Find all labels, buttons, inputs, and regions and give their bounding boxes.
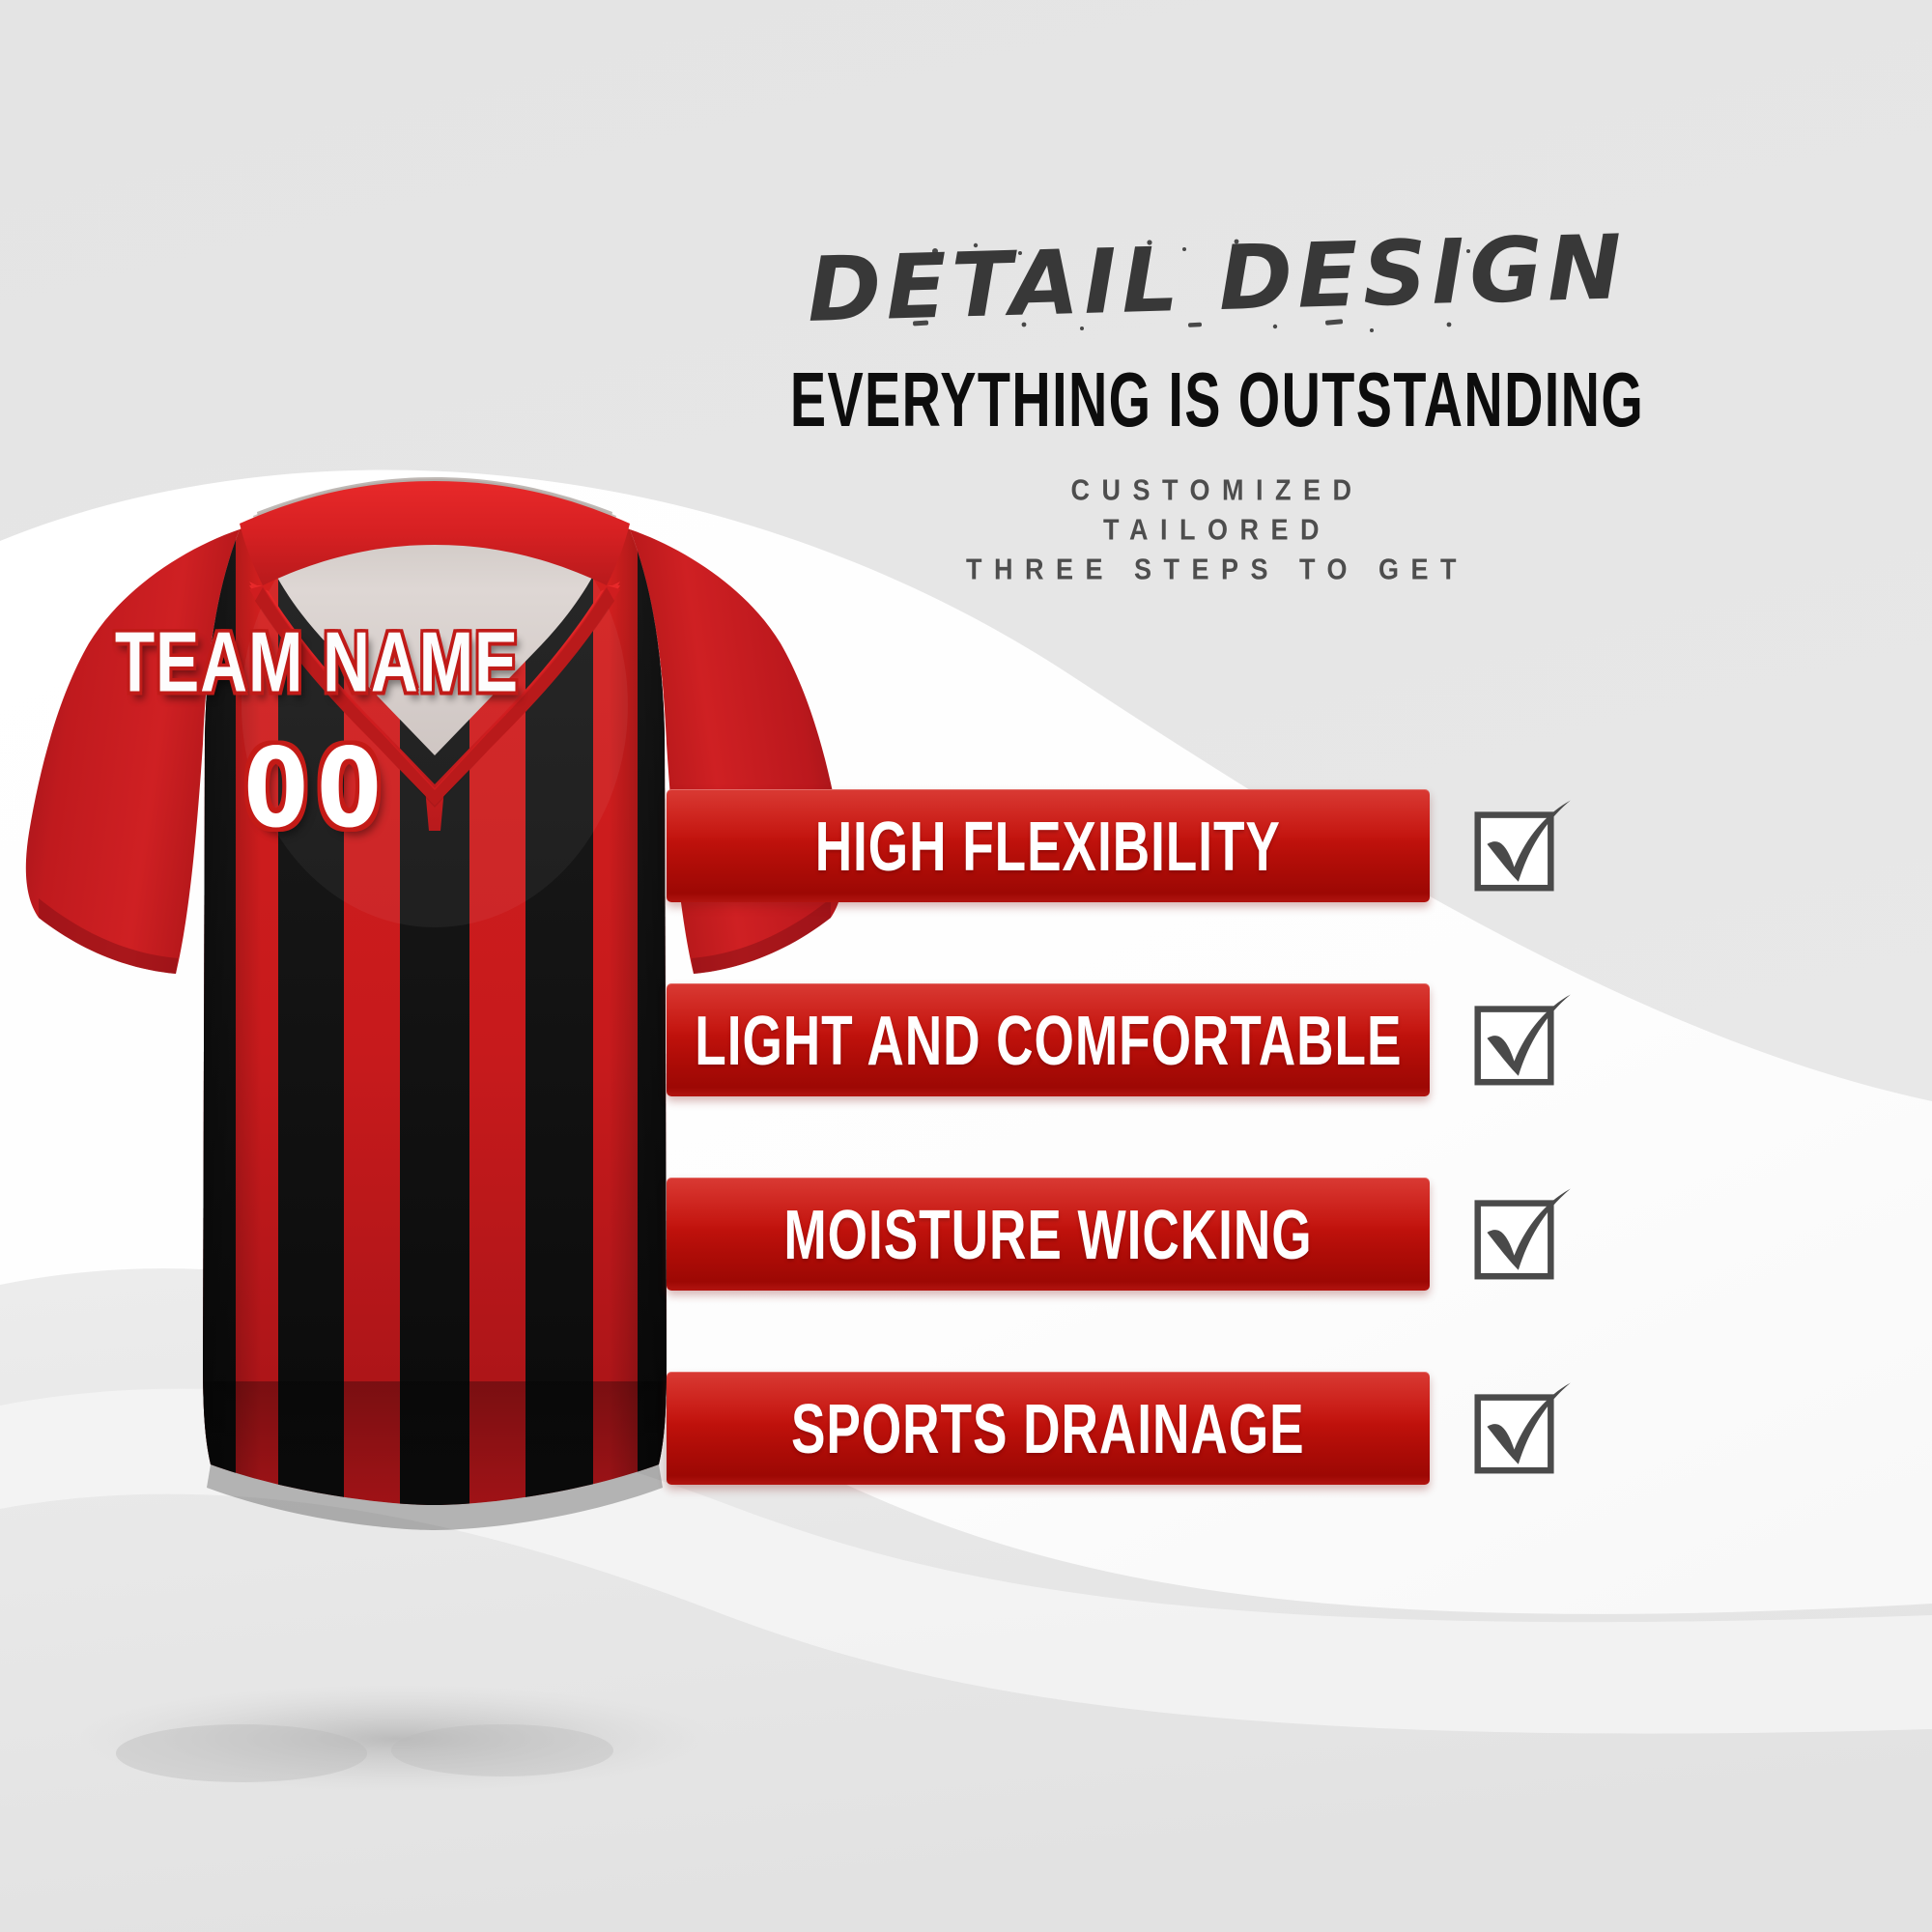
page-subtitle: EVERYTHING IS OUTSTANDING: [696, 355, 1739, 444]
feature-item[interactable]: LIGHT AND COMFORTABLE: [667, 983, 1932, 1096]
check-square-icon[interactable]: [1468, 1377, 1573, 1481]
caption-list: CUSTOMIZED TAILORED THREE STEPS TO GET: [657, 469, 1777, 587]
feature-bar[interactable]: LIGHT AND COMFORTABLE: [667, 983, 1430, 1096]
feature-item[interactable]: HIGH FLEXIBILITY: [667, 789, 1932, 902]
feature-label: MOISTURE WICKING: [783, 1193, 1312, 1275]
check-square-icon[interactable]: [1468, 794, 1573, 898]
feature-bar[interactable]: SPORTS DRAINAGE: [667, 1372, 1430, 1485]
check-square-icon[interactable]: [1468, 988, 1573, 1093]
feature-list: HIGH FLEXIBILITY LIGHT AND COMFORTABLE: [667, 789, 1932, 1566]
headline-block: DETAIL DESIGN EVERYTHING IS OUTSTANDING …: [657, 228, 1777, 587]
page-title-text: DETAIL DESIGN: [806, 228, 1628, 334]
feature-bar[interactable]: MOISTURE WICKING: [667, 1178, 1430, 1291]
feature-item[interactable]: MOISTURE WICKING: [667, 1178, 1932, 1291]
feature-bar[interactable]: HIGH FLEXIBILITY: [667, 789, 1430, 902]
feature-label: HIGH FLEXIBILITY: [815, 805, 1281, 887]
caption-line-2: THREE STEPS TO GET: [657, 548, 1777, 592]
feature-label: LIGHT AND COMFORTABLE: [695, 999, 1402, 1081]
caption-line-0: CUSTOMIZED: [657, 469, 1777, 513]
page-title: DETAIL DESIGN: [734, 228, 1700, 334]
check-square-icon[interactable]: [1468, 1182, 1573, 1287]
feature-label: SPORTS DRAINAGE: [791, 1387, 1305, 1469]
feature-item[interactable]: SPORTS DRAINAGE: [667, 1372, 1932, 1485]
caption-line-1: TAILORED: [657, 508, 1777, 553]
